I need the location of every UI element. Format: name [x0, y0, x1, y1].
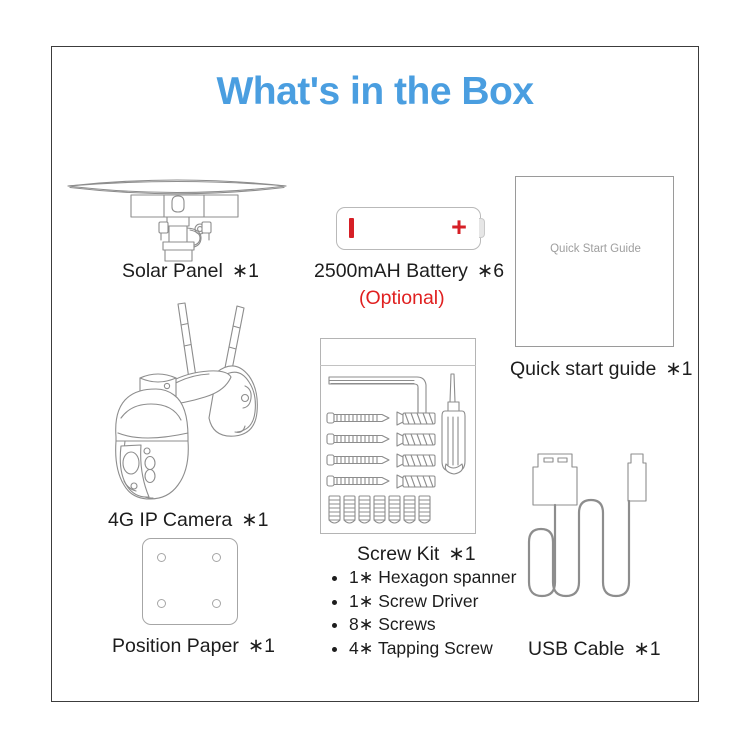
list-item: 1∗ Hexagon spanner: [349, 566, 542, 590]
solar-panel-name: Solar Panel: [122, 260, 223, 282]
screw-kit-label: Screw Kit∗1: [357, 542, 476, 566]
battery-label: 2500mAH Battery∗6: [314, 259, 504, 283]
screw-kit-qty: ∗1: [448, 543, 475, 565]
screw-kit-name: Screw Kit: [357, 543, 439, 565]
battery-minus-terminal-icon: [349, 218, 354, 238]
solar-panel-qty: ∗1: [232, 260, 259, 282]
mount-hole-icon: [212, 553, 221, 562]
whats-in-the-box-infographic: What's in the Box Solar Panel∗1 +: [0, 0, 750, 750]
ptz-camera-icon: [95, 300, 275, 505]
position-paper-label: Position Paper∗1: [112, 634, 275, 658]
list-item: 8∗ Screws: [349, 613, 542, 637]
screw-kit-contents-list: 1∗ Hexagon spanner 1∗ Screw Driver 8∗ Sc…: [332, 566, 542, 660]
usb-cable-label: USB Cable∗1: [528, 637, 661, 661]
mount-hole-icon: [157, 599, 166, 608]
usb-cable-name: USB Cable: [528, 638, 624, 660]
usb-cable-icon: [528, 450, 658, 630]
usb-cable-qty: ∗1: [633, 638, 660, 660]
mount-hole-icon: [212, 599, 221, 608]
page-title: What's in the Box: [0, 70, 750, 114]
screw-kit-contents-icon: [327, 372, 471, 530]
quick-start-guide-name: Quick start guide: [510, 358, 656, 380]
position-paper-qty: ∗1: [248, 635, 275, 657]
battery-plus-terminal-icon: +: [447, 216, 471, 240]
battery-qty: ∗6: [477, 260, 504, 282]
camera-name: 4G IP Camera: [108, 509, 232, 531]
solar-panel-icon: [64, 172, 290, 262]
battery-optional-note: (Optional): [359, 287, 445, 310]
battery-terminal-nub: [479, 218, 485, 238]
booklet-cover-text: Quick Start Guide: [516, 243, 675, 255]
position-paper-icon: [142, 538, 238, 625]
list-item: 1∗ Screw Driver: [349, 590, 542, 614]
camera-qty: ∗1: [241, 509, 268, 531]
position-paper-name: Position Paper: [112, 635, 239, 657]
quick-start-guide-qty: ∗1: [665, 358, 692, 380]
screw-kit-bag-divider: [320, 365, 476, 366]
solar-panel-label: Solar Panel∗1: [122, 259, 259, 283]
camera-label: 4G IP Camera∗1: [108, 508, 268, 532]
mount-hole-icon: [157, 553, 166, 562]
battery-name: 2500mAH Battery: [314, 260, 468, 282]
booklet-icon: Quick Start Guide: [515, 176, 674, 347]
list-item: 4∗ Tapping Screw: [349, 637, 542, 661]
quick-start-guide-label: Quick start guide∗1: [510, 357, 693, 381]
